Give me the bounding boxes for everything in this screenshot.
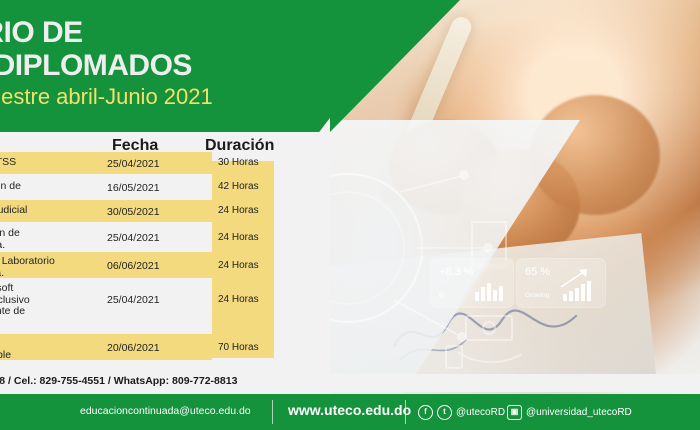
row-date: 25/04/2021: [107, 294, 160, 306]
row-date: 25/04/2021: [107, 232, 160, 244]
bar-chart-icon-1: [475, 281, 503, 301]
table-row: as en el Laboratorio Química.06/06/2021: [0, 252, 212, 278]
row-duration: 42 Horas: [218, 181, 259, 192]
trend-arrow-icon: [559, 267, 595, 289]
page-subtitle: Trimestre abril-Junio 2021: [0, 85, 378, 109]
footer-email[interactable]: educacioncontinuada@uteco.edu.do: [80, 405, 251, 417]
page-title: DARIO DE S Y DIPLOMADOS: [0, 18, 360, 81]
facebook-icon[interactable]: f: [418, 405, 433, 420]
social-handle-primary[interactable]: @utecoRD: [456, 407, 505, 418]
row-duration: 24 Horas: [218, 260, 259, 271]
row-course-name: mina y TSS: [0, 157, 16, 169]
stat-card-1-value: +8.3 %: [439, 266, 474, 278]
row-duration: 24 Horas: [218, 205, 259, 216]
footer-bar: educacioncontinuada@uteco.edu.do www.ute…: [0, 394, 700, 430]
instagram-icon[interactable]: ▣: [507, 405, 522, 420]
footer-divider-2: [405, 400, 406, 424]
row-course-name: n Microsoft ator (exclusivo al docente d…: [0, 283, 30, 329]
row-duration: 24 Horas: [218, 294, 259, 305]
stat-card-1: +8.3 % th: [430, 258, 514, 308]
row-course-name: actica Judicial: [0, 205, 27, 217]
row-date: 20/06/2021: [107, 342, 160, 354]
row-date: 16/05/2021: [107, 182, 160, 194]
social-group-primary[interactable]: f t @utecoRD: [418, 405, 505, 420]
row-course-name: y Gestión de: [0, 181, 21, 193]
row-course-name: pretación de uitectura.: [0, 228, 20, 251]
stat-card-1-sublabel: th: [439, 292, 444, 299]
stat-card-2-sublabel: Growing: [525, 292, 549, 299]
table-row: d Social Sostenible20/06/2021: [0, 334, 212, 360]
page-title-line1: DARIO DE: [0, 16, 83, 49]
column-header-duracion: Duración: [205, 137, 274, 155]
row-duration: 70 Horas: [218, 342, 259, 353]
table-row: pretación de uitectura.25/04/2021: [0, 224, 212, 250]
photo-panel: +8.3 % th 65 % Growing: [330, 0, 700, 395]
row-course-name: as en el Laboratorio Química.: [0, 256, 55, 279]
footer-website[interactable]: www.uteco.edu.do: [288, 402, 411, 418]
stat-card-2-value: 65 %: [525, 266, 550, 278]
contact-strip: xt. 245/258 / Cel.: 829-755-4551 / Whats…: [0, 374, 700, 392]
schedule-table: Fecha Duración mina y TSS25/04/202130 Ho…: [0, 132, 330, 370]
twitter-icon[interactable]: t: [437, 405, 452, 420]
table-row: actica Judicial30/05/2021: [0, 200, 212, 222]
social-group-secondary[interactable]: ▣ @universidad_utecoRD: [507, 405, 632, 420]
row-course-name: d Social Sostenible: [0, 338, 11, 361]
row-duration: 30 Horas: [218, 157, 259, 168]
row-date: 25/04/2021: [107, 158, 160, 170]
table-row: y Gestión de16/05/2021: [0, 176, 212, 198]
row-date: 06/06/2021: [107, 260, 160, 272]
poster-canvas: +8.3 % th 65 % Growing DARIO DE S Y DIPL…: [0, 0, 700, 430]
row-date: 30/05/2021: [107, 206, 160, 218]
table-row: mina y TSS25/04/2021: [0, 152, 212, 174]
stat-card-2: 65 % Growing: [516, 258, 606, 308]
row-duration: 24 Horas: [218, 232, 259, 243]
social-handle-secondary[interactable]: @universidad_utecoRD: [526, 407, 632, 418]
footer-divider-1: [272, 400, 273, 424]
table-row: n Microsoft ator (exclusivo al docente d…: [0, 280, 212, 318]
contact-phones: xt. 245/258 / Cel.: 829-755-4551 / Whats…: [0, 375, 237, 387]
page-title-line2: S Y DIPLOMADOS: [0, 51, 360, 81]
